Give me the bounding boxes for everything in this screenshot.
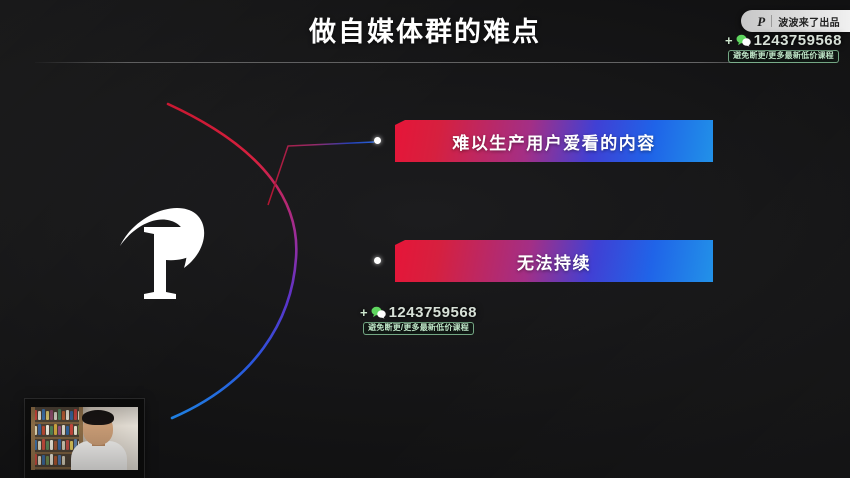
plus-icon: + bbox=[725, 34, 733, 47]
page-title: 做自媒体群的难点 bbox=[0, 14, 850, 50]
watermark-wechat-middle: + 1243759568 避免断更/更多最新低价课程 bbox=[360, 305, 477, 335]
brand-badge-p-icon: P bbox=[757, 15, 765, 28]
watermark-pill-middle: 避免断更/更多最新低价课程 bbox=[363, 322, 474, 335]
bookshelf-row bbox=[33, 424, 81, 439]
brand-badge-separator bbox=[771, 15, 772, 27]
person-hair bbox=[82, 410, 114, 425]
plus-icon: + bbox=[360, 306, 368, 319]
connector-dot-2 bbox=[374, 257, 381, 264]
watermark-top-row: + 1243759568 bbox=[725, 33, 842, 48]
webcam-video bbox=[31, 407, 138, 470]
title-divider bbox=[35, 62, 815, 63]
watermark-wechat-id-top: 1243759568 bbox=[754, 33, 842, 48]
difficulty-bar-2: 无法持续 bbox=[395, 240, 713, 282]
presentation-slide: 做自媒体群的难点 bbox=[0, 0, 850, 478]
watermark-wechat-top: + 1243759568 避免断更/更多最新低价课程 bbox=[725, 33, 842, 63]
bookshelf-row bbox=[33, 409, 81, 424]
wechat-icon bbox=[736, 34, 751, 47]
difficulty-bar-2-label: 无法持续 bbox=[517, 249, 591, 274]
wechat-icon bbox=[371, 306, 386, 319]
webcam-overlay[interactable] bbox=[25, 399, 144, 478]
watermark-pill-top: 避免断更/更多最新低价课程 bbox=[728, 50, 839, 63]
difficulty-bar-1-label: 难以生产用户爱看的内容 bbox=[452, 129, 656, 154]
bookshelf-post bbox=[31, 407, 35, 470]
watermark-wechat-id-middle: 1243759568 bbox=[389, 305, 477, 320]
brand-p-logo bbox=[118, 196, 214, 304]
watermark-middle-row: + 1243759568 bbox=[360, 305, 477, 320]
brand-badge-label: 波波来了出品 bbox=[778, 14, 840, 29]
connector-dot-1 bbox=[374, 137, 381, 144]
difficulty-bar-1: 难以生产用户爱看的内容 bbox=[395, 120, 713, 162]
brand-badge: P 波波来了出品 bbox=[741, 10, 850, 32]
